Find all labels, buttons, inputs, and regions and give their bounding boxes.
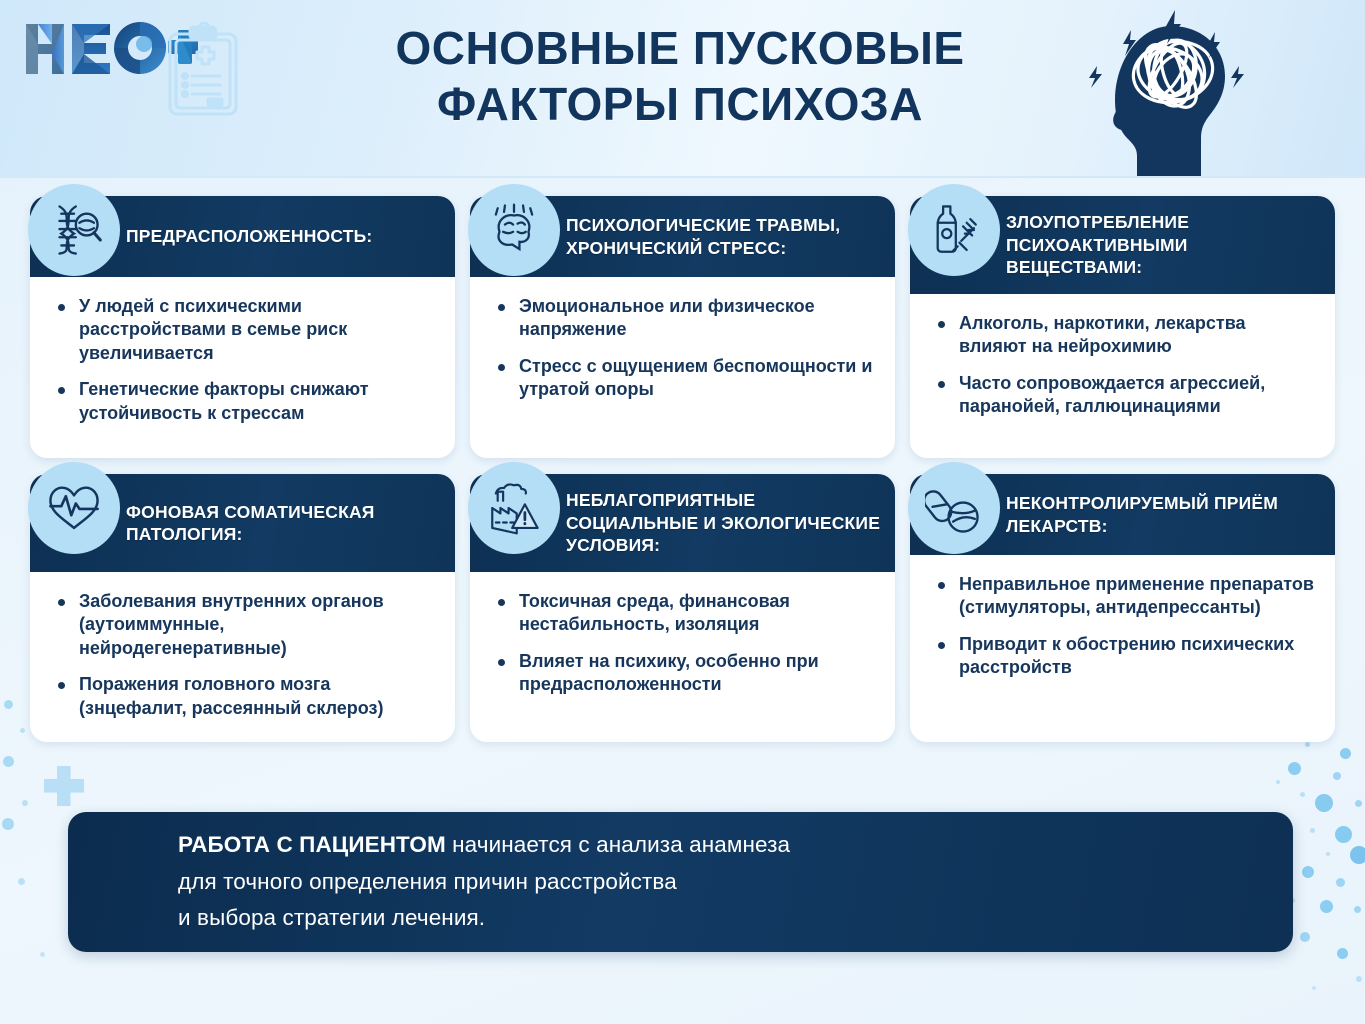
- factor-card-predisposition[interactable]: ПРЕДРАСПОЛОЖЕННОСТЬ: У людей с психическ…: [30, 196, 455, 458]
- dot: [4, 700, 13, 709]
- dot: [1356, 976, 1362, 982]
- card-header: ФОНОВАЯ СОМАТИЧЕСКАЯ ПАТОЛОГИЯ:: [30, 474, 455, 572]
- bullet-list: Заболевания внутренних органов (аутоимму…: [56, 590, 435, 720]
- factory-warning-icon: [468, 462, 560, 554]
- bullet-list: Эмоциональное или физическое напряжение …: [496, 295, 875, 402]
- list-item: Токсичная среда, финансовая нестабильнос…: [496, 590, 875, 637]
- list-item: Приводит к обострению психических расстр…: [936, 633, 1315, 680]
- card-header: ПРЕДРАСПОЛОЖЕННОСТЬ:: [30, 196, 455, 277]
- heart-pulse-icon: [28, 462, 120, 554]
- list-item: Заболевания внутренних органов (аутоимму…: [56, 590, 435, 660]
- dot: [1276, 780, 1280, 784]
- page-title: ОСНОВНЫЕ ПУСКОВЫЕ ФАКТОРЫ ПСИХОЗА: [300, 20, 1060, 132]
- card-title: ПРЕДРАСПОЛОЖЕННОСТЬ:: [126, 225, 372, 247]
- card-title: ЗЛОУПОТРЕБЛЕНИЕ ПСИХОАКТИВНЫМИ ВЕЩЕСТВАМ…: [1006, 211, 1321, 278]
- dot: [1335, 826, 1352, 843]
- dot: [1340, 748, 1351, 759]
- list-item: Неправильное применение препаратов (стим…: [936, 573, 1315, 620]
- banner-lead: РАБОТА С ПАЦИЕНТОМ: [178, 832, 446, 857]
- banner-line-3: и выбора стратегии лечения.: [178, 900, 790, 936]
- dot: [1350, 846, 1365, 864]
- bullet-list: Неправильное применение препаратов (стим…: [936, 573, 1315, 680]
- dna-magnifier-icon: [28, 184, 120, 276]
- title-line-2: ФАКТОРЫ ПСИХОЗА: [300, 76, 1060, 132]
- dot: [3, 756, 14, 767]
- dot: [1354, 906, 1361, 913]
- dot: [1355, 800, 1362, 807]
- card-title: НЕБЛАГОПРИЯТНЫЕ СОЦИАЛЬНЫЕ И ЭКОЛОГИЧЕСК…: [566, 489, 881, 556]
- list-item: Поражения головного мозга (знцефалит, ра…: [56, 673, 435, 720]
- dot: [22, 800, 28, 806]
- dot: [2, 818, 14, 830]
- card-body: Алкоголь, наркотики, лекарства влияют на…: [910, 294, 1335, 433]
- head-with-tangled-thoughts-icon: [1075, 4, 1275, 178]
- card-header: НЕКОНТРОЛИРУЕМЫЙ ПРИЁМ ЛЕКАРСТВ:: [910, 474, 1335, 555]
- banner-rest: начинается с анализа анамнеза: [446, 832, 790, 857]
- card-body: У людей с психическими расстройствами в …: [30, 277, 455, 439]
- factor-card-uncontrolled-medication[interactable]: НЕКОНТРОЛИРУЕМЫЙ ПРИЁМ ЛЕКАРСТВ: Неправи…: [910, 474, 1335, 742]
- banner-line-2: для точного определения причин расстройс…: [178, 864, 790, 900]
- dot: [18, 878, 25, 885]
- dot: [1312, 986, 1316, 990]
- bottle-syringe-icon: [908, 184, 1000, 276]
- list-item: У людей с психическими расстройствами в …: [56, 295, 435, 365]
- dot: [40, 952, 45, 957]
- dot: [20, 728, 25, 733]
- card-title: ФОНОВАЯ СОМАТИЧЕСКАЯ ПАТОЛОГИЯ:: [126, 501, 441, 546]
- card-header: ЗЛОУПОТРЕБЛЕНИЕ ПСИХОАКТИВНЫМИ ВЕЩЕСТВАМ…: [910, 196, 1335, 294]
- banner-line-1: РАБОТА С ПАЦИЕНТОМ начинается с анализа …: [178, 827, 790, 863]
- cross-icon: [44, 766, 84, 806]
- dot: [1337, 948, 1348, 959]
- list-item: Стресс с ощущением беспомощности и утрат…: [496, 355, 875, 402]
- stressed-brain-icon: [468, 184, 560, 276]
- factor-card-substance-abuse[interactable]: ЗЛОУПОТРЕБЛЕНИЕ ПСИХОАКТИВНЫМИ ВЕЩЕСТВАМ…: [910, 196, 1335, 458]
- list-item: Алкоголь, наркотики, лекарства влияют на…: [936, 312, 1315, 359]
- card-body: Заболевания внутренних органов (аутоимму…: [30, 572, 455, 734]
- card-body: Эмоциональное или физическое напряжение …: [470, 277, 895, 416]
- card-title: НЕКОНТРОЛИРУЕМЫЙ ПРИЁМ ЛЕКАРСТВ:: [1006, 492, 1321, 537]
- dot: [1300, 932, 1310, 942]
- list-item: Эмоциональное или физическое напряжение: [496, 295, 875, 342]
- dot: [1300, 792, 1305, 797]
- factor-card-social-ecological[interactable]: НЕБЛАГОПРИЯТНЫЕ СОЦИАЛЬНЫЕ И ЭКОЛОГИЧЕСК…: [470, 474, 895, 742]
- bottom-banner: РАБОТА С ПАЦИЕНТОМ начинается с анализа …: [68, 812, 1293, 952]
- bullet-list: У людей с психическими расстройствами в …: [56, 295, 435, 425]
- dot: [1310, 828, 1315, 833]
- bullet-list: Алкоголь, наркотики, лекарства влияют на…: [936, 312, 1315, 419]
- factor-card-trauma-stress[interactable]: ПСИХОЛОГИЧЕСКИЕ ТРАВМЫ, ХРОНИЧЕСКИЙ СТРЕ…: [470, 196, 895, 458]
- pills-icon: [908, 462, 1000, 554]
- clipboard-medical-icon: [166, 22, 240, 118]
- card-body: Неправильное применение препаратов (стим…: [910, 555, 1335, 694]
- title-line-1: ОСНОВНЫЕ ПУСКОВЫЕ: [300, 20, 1060, 76]
- card-header: ПСИХОЛОГИЧЕСКИЕ ТРАВМЫ, ХРОНИЧЕСКИЙ СТРЕ…: [470, 196, 895, 277]
- banner-text: РАБОТА С ПАЦИЕНТОМ начинается с анализа …: [178, 827, 790, 936]
- card-title: ПСИХОЛОГИЧЕСКИЕ ТРАВМЫ, ХРОНИЧЕСКИЙ СТРЕ…: [566, 214, 881, 259]
- factors-grid: ПРЕДРАСПОЛОЖЕННОСТЬ: У людей с психическ…: [30, 196, 1335, 742]
- infographic-page: ОСНОВНЫЕ ПУСКОВЫЕ ФАКТОРЫ ПСИХОЗА: [0, 0, 1365, 1024]
- list-item: Генетические факторы снижают устойчивост…: [56, 378, 435, 425]
- dot: [1326, 852, 1330, 856]
- card-body: Токсичная среда, финансовая нестабильнос…: [470, 572, 895, 711]
- dot: [1305, 742, 1310, 747]
- dot: [1320, 900, 1333, 913]
- dot: [1315, 794, 1333, 812]
- card-header: НЕБЛАГОПРИЯТНЫЕ СОЦИАЛЬНЫЕ И ЭКОЛОГИЧЕСК…: [470, 474, 895, 572]
- dot: [1336, 878, 1345, 887]
- bullet-list: Токсичная среда, финансовая нестабильнос…: [496, 590, 875, 697]
- list-item: Часто сопровождается агрессией, паранойе…: [936, 372, 1315, 419]
- list-item: Влияет на психику, особенно при предрасп…: [496, 650, 875, 697]
- dot: [1333, 772, 1341, 780]
- dot: [1302, 866, 1314, 878]
- dot: [1288, 762, 1301, 775]
- factor-card-somatic-pathology[interactable]: ФОНОВАЯ СОМАТИЧЕСКАЯ ПАТОЛОГИЯ: Заболева…: [30, 474, 455, 742]
